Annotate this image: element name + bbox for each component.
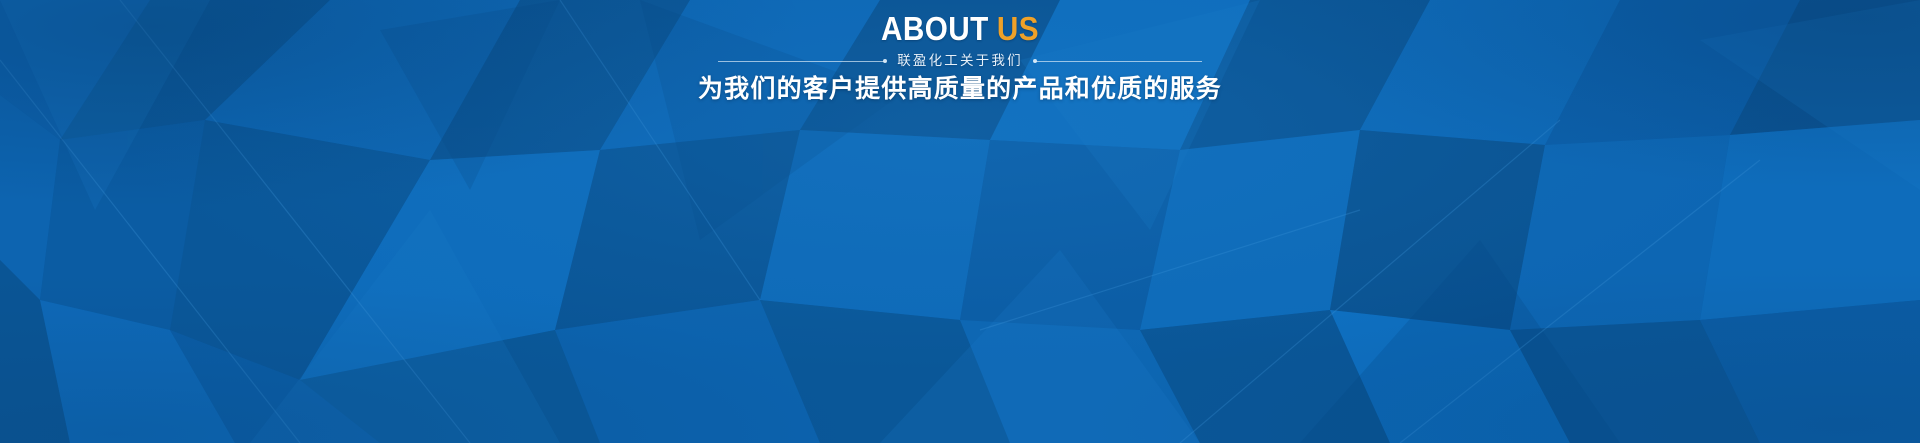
page-title-accent: US <box>997 10 1039 47</box>
headline-text: 为我们的客户提供高质量的产品和优质的服务 <box>0 74 1920 105</box>
page-title: ABOUTUS <box>96 12 1824 46</box>
subtitle-row: 联盈化工关于我们 <box>0 55 1920 69</box>
rule-line-right-icon <box>1034 61 1202 62</box>
about-us-banner: ABOUTUS 联盈化工关于我们 为我们的客户提供高质量的产品和优质的服务 <box>0 0 1920 443</box>
subtitle-text: 联盈化工关于我们 <box>893 55 1027 69</box>
rule-line-left-icon <box>718 61 886 62</box>
banner-content: ABOUTUS 联盈化工关于我们 为我们的客户提供高质量的产品和优质的服务 <box>0 0 1920 105</box>
page-title-primary: ABOUT <box>881 10 989 47</box>
